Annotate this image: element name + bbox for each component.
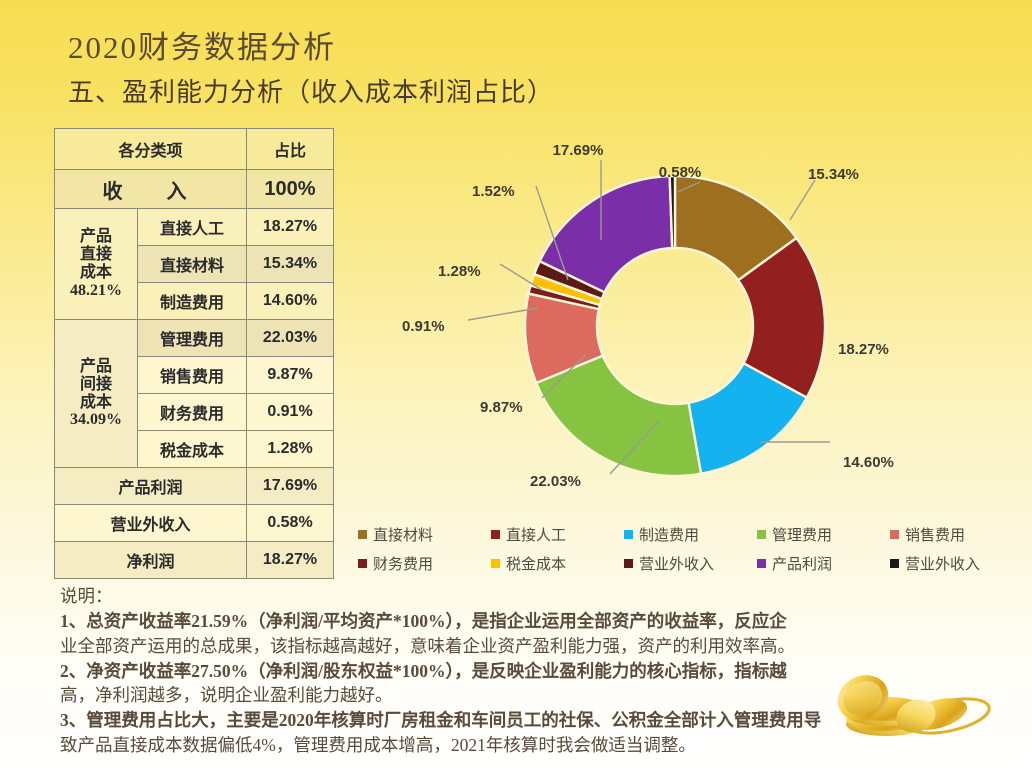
row-value: 9.87% (247, 357, 334, 394)
legend-item[interactable]: 直接材料 (358, 524, 491, 545)
legend-swatch-icon (491, 530, 500, 539)
donut-data-label: 0.91% (402, 318, 445, 335)
donut-data-label: 1.28% (438, 263, 481, 280)
legend-item[interactable]: 税金成本 (491, 553, 624, 574)
donut-svg (360, 130, 1020, 530)
revenue-value: 100% (247, 170, 334, 209)
legend-swatch-icon (757, 530, 766, 539)
legend-item[interactable]: 营业外收入 (890, 553, 1023, 574)
legend-label: 税金成本 (506, 553, 566, 574)
legend-label: 营业外收入 (905, 553, 980, 574)
group-line: 成本 (59, 394, 133, 412)
legend-item[interactable]: 营业外收入 (624, 553, 757, 574)
legend-item[interactable]: 销售费用 (890, 524, 1023, 545)
legend-label: 制造费用 (639, 524, 699, 545)
table-row-product-profit: 产品利润 17.69% (55, 468, 334, 505)
legend-item[interactable]: 管理费用 (757, 524, 890, 545)
row-value: 22.03% (247, 320, 334, 357)
legend-item[interactable]: 制造费用 (624, 524, 757, 545)
row-label: 制造费用 (138, 283, 247, 320)
row-value: 15.34% (247, 246, 334, 283)
donut-data-label: 14.60% (843, 454, 894, 471)
legend-label: 产品利润 (772, 553, 832, 574)
legend-label: 营业外收入 (639, 553, 714, 574)
notes-line: 业全部资产运用的总成果，该指标越高越好，意味着企业资产盈利能力强，资产的利用效率… (60, 634, 1005, 659)
notes-heading: 说明： (60, 584, 1005, 609)
legend-swatch-icon (491, 559, 500, 568)
profitability-table: 各分类项 占比 收 入 100% 产品 直接 成本 48.21% 直接人工 (54, 128, 334, 579)
row-value: 14.60% (247, 283, 334, 320)
notes-line: 2、净资产收益率27.50%（净利润/股东权益*100%），是反映企业盈利能力的… (60, 659, 1005, 684)
table-row-nonoperating-income: 营业外收入 0.58% (55, 505, 334, 542)
table-row: 产品 间接 成本 34.09% 管理费用 22.03% (55, 320, 334, 357)
row-label: 税金成本 (138, 431, 247, 468)
donut-slices (525, 176, 825, 476)
legend-swatch-icon (890, 559, 899, 568)
profit-donut-chart: 15.34%18.27%14.60%22.03%9.87%0.91%1.28%1… (360, 130, 1020, 530)
donut-data-label: 0.58% (659, 164, 702, 181)
header-category: 各分类项 (55, 129, 247, 170)
legend-label: 财务费用 (373, 553, 433, 574)
legend-swatch-icon (757, 559, 766, 568)
row-value: 0.58% (247, 505, 334, 542)
group-direct-cost: 产品 直接 成本 48.21% (55, 209, 138, 320)
notes-line: 3、管理费用占比大，主要是2020年核算时厂房租金和车间员工的社保、公积金全部计… (60, 708, 1005, 733)
explanation-notes: 说明： 1、总资产收益率21.59%（净利润/平均资产*100%），是指企业运用… (60, 584, 1005, 758)
row-value: 1.28% (247, 431, 334, 468)
section-subtitle: 五、盈利能力分析（收入成本利润占比） (68, 72, 554, 109)
row-label: 销售费用 (138, 357, 247, 394)
row-label: 产品利润 (55, 468, 247, 505)
page-title: 2020财务数据分析 (68, 22, 336, 67)
row-value: 18.27% (247, 209, 334, 246)
group-line: 34.09% (59, 411, 133, 429)
header-ratio: 占比 (247, 129, 334, 170)
group-line: 成本 (59, 264, 133, 282)
donut-data-label: 15.34% (808, 166, 859, 183)
row-label: 管理费用 (138, 320, 247, 357)
notes-line: 高，净利润越多，说明企业盈利能力越好。 (60, 683, 1005, 708)
leader-line (790, 180, 815, 220)
row-label: 直接人工 (138, 209, 247, 246)
legend-item[interactable]: 产品利润 (757, 553, 890, 574)
legend-label: 销售费用 (905, 524, 965, 545)
legend-row-2: 财务费用 税金成本 营业外收入 产品利润 营业外收入 (358, 553, 1023, 574)
revenue-label: 收 入 (55, 170, 247, 209)
donut-data-label: 22.03% (530, 473, 581, 490)
legend-swatch-icon (624, 530, 633, 539)
row-label: 财务费用 (138, 394, 247, 431)
legend-label: 直接材料 (373, 524, 433, 545)
row-label: 营业外收入 (55, 505, 247, 542)
table-row-net-profit: 净利润 18.27% (55, 542, 334, 579)
group-line: 产品 (59, 228, 133, 246)
legend-swatch-icon (890, 530, 899, 539)
group-indirect-cost: 产品 间接 成本 34.09% (55, 320, 138, 468)
row-value: 18.27% (247, 542, 334, 579)
table-row-revenue: 收 入 100% (55, 170, 334, 209)
table-row: 产品 直接 成本 48.21% 直接人工 18.27% (55, 209, 334, 246)
donut-data-label: 9.87% (480, 399, 523, 416)
table-header-row: 各分类项 占比 (55, 129, 334, 170)
chart-legend: 直接材料 直接人工 制造费用 管理费用 销售费用 财务费用 税金成本 营业外收入… (358, 524, 1023, 582)
donut-data-label: 18.27% (838, 341, 889, 358)
group-line: 间接 (59, 376, 133, 394)
legend-swatch-icon (624, 559, 633, 568)
row-value: 17.69% (247, 468, 334, 505)
legend-row-1: 直接材料 直接人工 制造费用 管理费用 销售费用 (358, 524, 1023, 545)
legend-swatch-icon (358, 530, 367, 539)
group-line: 48.21% (59, 282, 133, 300)
row-value: 0.91% (247, 394, 334, 431)
legend-item[interactable]: 财务费用 (358, 553, 491, 574)
legend-swatch-icon (358, 559, 367, 568)
row-label: 直接材料 (138, 246, 247, 283)
slide-canvas: 2020财务数据分析 五、盈利能力分析（收入成本利润占比） 各分类项 占比 收 … (0, 0, 1032, 769)
group-line: 产品 (59, 358, 133, 376)
donut-data-label: 17.69% (553, 142, 604, 159)
donut-data-label: 1.52% (472, 183, 515, 200)
group-line: 直接 (59, 246, 133, 264)
row-label: 净利润 (55, 542, 247, 579)
notes-line: 1、总资产收益率21.59%（净利润/平均资产*100%），是指企业运用全部资产… (60, 609, 1005, 634)
legend-label: 直接人工 (506, 524, 566, 545)
legend-item[interactable]: 直接人工 (491, 524, 624, 545)
notes-line: 致产品直接成本数据偏低4%，管理费用成本增高，2021年核算时我会做适当调整。 (60, 733, 1005, 758)
legend-label: 管理费用 (772, 524, 832, 545)
